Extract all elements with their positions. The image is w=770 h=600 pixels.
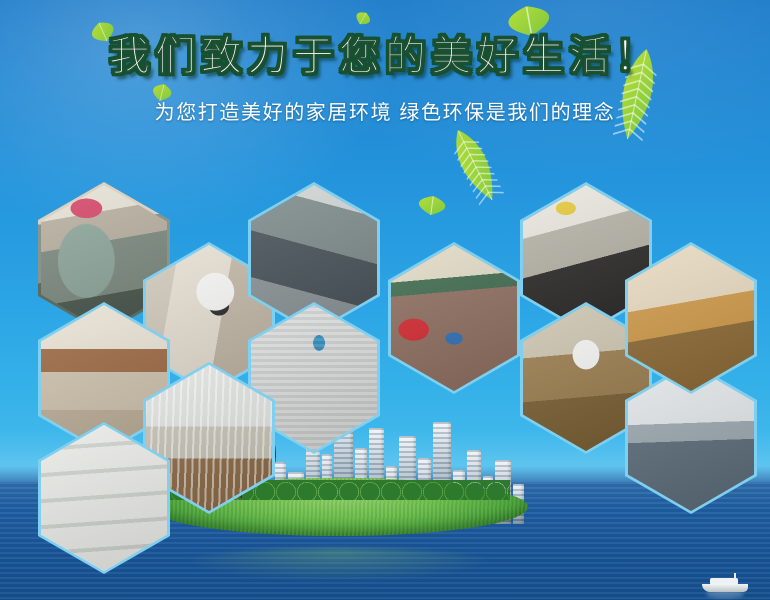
banner-title: 我们致力于您的美好生活！ xyxy=(0,36,770,77)
banner-heading: 我们致力于您的美好生活！ 为您打造美好的家居环境 绿色环保是我们的理念 xyxy=(0,36,770,125)
banner-subtitle: 为您打造美好的家居环境 绿色环保是我们的理念 xyxy=(0,96,770,125)
hex-photo-image xyxy=(391,245,517,391)
hex-photo-carpet-shampooing xyxy=(388,242,520,394)
banner-root: 我们致力于您的美好生活！ 为您打造美好的家居环境 绿色环保是我们的理念 xyxy=(0,0,770,600)
